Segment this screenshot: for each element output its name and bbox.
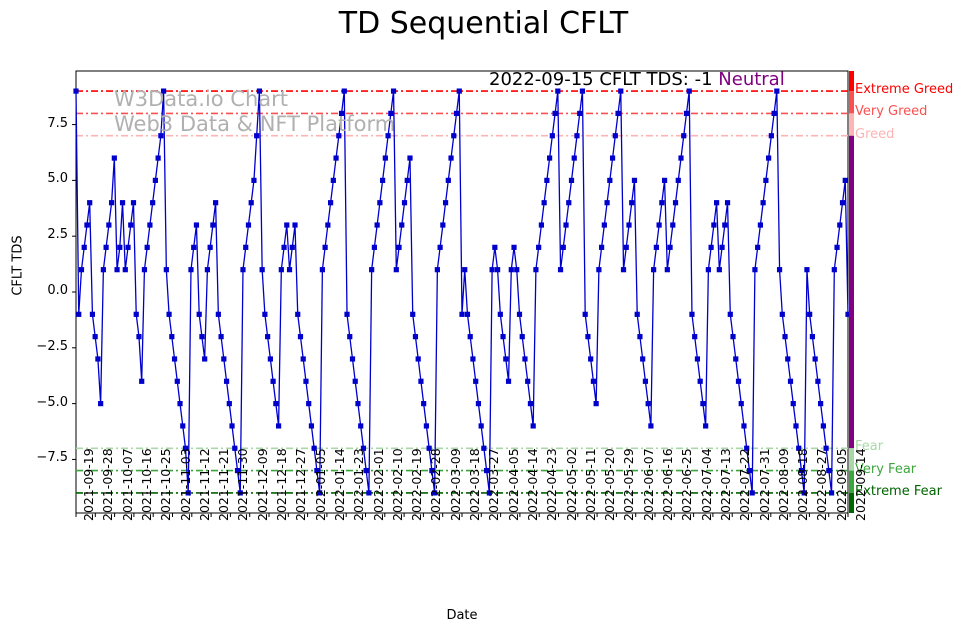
data-point [117,245,122,250]
data-point [632,178,637,183]
data-point [741,423,746,428]
data-point [834,245,839,250]
data-point [520,334,525,339]
data-point [243,245,248,250]
data-point [268,356,273,361]
data-point [681,133,686,138]
data-point [561,245,566,250]
data-point [459,312,464,317]
data-point [424,423,429,428]
data-point [377,200,382,205]
data-point [659,200,664,205]
colorbar-segment [849,91,854,113]
data-point [692,334,697,339]
data-point [837,222,842,227]
zone-label: Extreme Fear [855,484,942,499]
data-point [739,401,744,406]
x-tick-label: 2022-04-14 [525,448,540,521]
data-point [457,88,462,93]
data-point [815,379,820,384]
data-point [306,401,311,406]
data-point [468,334,473,339]
data-point [79,267,84,272]
data-point [807,312,812,317]
data-point [156,155,161,160]
x-tick-label: 2022-03-27 [486,448,501,521]
data-point [101,267,106,272]
data-point [643,379,648,384]
data-point [752,267,757,272]
data-point [380,178,385,183]
data-point [309,423,314,428]
y-tick-label: 2.5 [12,227,68,242]
data-point [758,222,763,227]
zone-label: Greed [855,127,894,142]
data-point [804,267,809,272]
data-point [251,178,256,183]
data-point [229,423,234,428]
x-tick-label: 2021-10-25 [158,448,173,521]
data-point [574,133,579,138]
data-point [106,222,111,227]
data-point [180,423,185,428]
data-point [594,401,599,406]
data-point [490,267,495,272]
x-tick-label: 2022-06-25 [679,448,694,521]
data-point [788,379,793,384]
data-point [791,401,796,406]
data-point [479,423,484,428]
data-point [602,222,607,227]
data-point [728,312,733,317]
data-point [547,155,552,160]
data-point [761,200,766,205]
data-point [569,178,574,183]
data-point [673,200,678,205]
data-point [292,222,297,227]
data-point [323,245,328,250]
data-point [550,133,555,138]
data-point [249,200,254,205]
data-point [525,379,530,384]
y-tick-label: 5.0 [12,171,68,186]
colorbar-segment [849,71,854,91]
data-point [782,334,787,339]
data-point [667,245,672,250]
x-tick-label: 2022-06-07 [641,448,656,521]
data-point [670,222,675,227]
data-point [646,401,651,406]
data-point [733,356,738,361]
x-tick-label: 2022-04-23 [544,448,559,521]
x-tick-label: 2022-04-05 [506,448,521,521]
data-point [552,111,557,116]
data-point [153,178,158,183]
data-point [375,222,380,227]
x-tick-label: 2022-02-19 [409,448,424,521]
data-point [511,245,516,250]
x-tick-label: 2022-08-27 [814,448,829,521]
data-point [591,379,596,384]
data-point [736,379,741,384]
data-point [711,222,716,227]
data-point [621,267,626,272]
data-point [188,267,193,272]
data-point [287,267,292,272]
data-point [498,312,503,317]
data-point [766,155,771,160]
data-point [383,155,388,160]
data-point [451,133,456,138]
data-point [191,245,196,250]
data-point [473,379,478,384]
data-point [476,401,481,406]
x-tick-label: 2022-01-05 [313,448,328,521]
data-point [722,222,727,227]
data-point [536,245,541,250]
data-point [240,267,245,272]
data-point [533,267,538,272]
data-point [399,222,404,227]
data-point [769,133,774,138]
data-point [531,423,536,428]
data-point [717,267,722,272]
data-point [588,356,593,361]
data-point [328,200,333,205]
data-point [369,267,374,272]
y-tick-label: −2.5 [12,339,68,354]
data-point [651,267,656,272]
data-point [465,312,470,317]
data-point [629,200,634,205]
data-point [657,222,662,227]
y-tick-label: −7.5 [12,450,68,465]
data-point [522,356,527,361]
data-point [448,155,453,160]
data-point [358,423,363,428]
data-point [624,245,629,250]
data-point [95,356,100,361]
x-tick-label: 2022-07-04 [699,448,714,521]
x-tick-label: 2022-07-22 [737,448,752,521]
x-tick-label: 2022-05-02 [564,448,579,521]
data-point [843,178,848,183]
data-point [454,111,459,116]
chart-figure: TD Sequential CFLT CFLT TDS Date W3Data.… [0,0,967,633]
x-tick-label: 2022-07-13 [718,448,733,521]
data-point [227,401,232,406]
y-tick-label: −5.0 [12,395,68,410]
x-tick-label: 2022-07-31 [757,448,772,521]
data-point [410,312,415,317]
data-point [407,155,412,160]
data-point [172,356,177,361]
x-tick-label: 2022-05-29 [621,448,636,521]
data-point [509,267,514,272]
data-point [224,379,229,384]
data-point [295,312,300,317]
data-point [166,312,171,317]
data-point [164,267,169,272]
data-point [134,312,139,317]
data-point [114,267,119,272]
data-point [355,401,360,406]
data-point [391,88,396,93]
data-point [104,245,109,250]
x-tick-label: 2022-01-14 [332,448,347,521]
data-point [635,312,640,317]
data-point [262,312,267,317]
data-point [506,379,511,384]
x-tick-label: 2022-05-20 [602,448,617,521]
data-point [514,267,519,272]
data-point [273,401,278,406]
data-point [87,200,92,205]
x-tick-label: 2021-11-12 [197,448,212,521]
data-point [626,222,631,227]
data-point [615,111,620,116]
zone-label: Extreme Greed [855,82,953,97]
x-tick-label: 2022-05-11 [583,448,598,521]
current-value-annotation: 2022-09-15 CFLT TDS: -1 Neutral [489,69,785,90]
data-point [470,356,475,361]
data-point [676,178,681,183]
data-point [539,222,544,227]
data-point [654,245,659,250]
data-point [777,267,782,272]
data-point [333,155,338,160]
data-point [730,334,735,339]
data-point [832,267,837,272]
data-point [572,155,577,160]
watermark-line-1: W3Data.io Chart [114,87,288,111]
data-point [492,245,497,250]
data-point [821,423,826,428]
watermark-line-2: Web3 Data & NFT Platform [114,112,395,136]
data-point [139,379,144,384]
data-point [662,178,667,183]
data-point [435,267,440,272]
data-point [405,178,410,183]
data-point [147,222,152,227]
zone-label: Very Greed [855,104,927,119]
x-tick-label: 2022-02-01 [371,448,386,521]
data-point [276,423,281,428]
data-point [613,133,618,138]
data-point [208,245,213,250]
data-point [175,379,180,384]
data-point [131,200,136,205]
data-point [347,334,352,339]
data-point [585,334,590,339]
data-point [610,155,615,160]
data-point [112,155,117,160]
data-point [440,222,445,227]
data-point [142,267,147,272]
data-point [599,245,604,250]
data-point [344,312,349,317]
data-point [320,267,325,272]
data-point [125,245,130,250]
data-point [793,423,798,428]
x-tick-label: 2022-01-23 [351,448,366,521]
y-tick-label: 0.0 [12,283,68,298]
y-tick-label: 7.5 [12,116,68,131]
data-point [145,245,150,250]
x-tick-label: 2021-11-03 [178,448,193,521]
x-tick-label: 2021-12-27 [293,448,308,521]
data-point [271,379,276,384]
data-point [698,379,703,384]
data-point [418,379,423,384]
data-point [177,401,182,406]
data-point [416,356,421,361]
data-point [689,312,694,317]
data-point [438,245,443,250]
data-point [813,356,818,361]
data-point [120,200,125,205]
data-point [421,401,426,406]
data-point [695,356,700,361]
data-point [583,312,588,317]
data-point [637,334,642,339]
data-point [780,312,785,317]
data-point [396,245,401,250]
x-tick-label: 2022-03-18 [467,448,482,521]
x-tick-label: 2022-08-09 [776,448,791,521]
data-point [703,423,708,428]
data-point [596,267,601,272]
data-point [298,334,303,339]
x-tick-label: 2021-12-09 [255,448,270,521]
data-point [394,267,399,272]
data-point [544,178,549,183]
data-point [216,312,221,317]
data-point [700,401,705,406]
data-point [709,245,714,250]
data-point [563,222,568,227]
data-point [372,245,377,250]
data-point [500,334,505,339]
colorbar-segment [849,113,854,135]
data-point [818,401,823,406]
x-tick-label: 2022-03-09 [448,448,463,521]
annotation-sentiment: Neutral [718,69,784,90]
annotation-text: 2022-09-15 CFLT TDS: -1 [489,69,713,90]
data-point [205,267,210,272]
data-point [558,267,563,272]
data-point [678,155,683,160]
x-tick-label: 2021-09-28 [100,448,115,521]
data-point [446,178,451,183]
data-point [495,267,500,272]
data-point [290,245,295,250]
x-tick-label: 2021-11-21 [216,448,231,521]
data-point [331,178,336,183]
data-point [785,356,790,361]
data-point [82,245,87,250]
data-point [279,267,284,272]
x-tick-label: 2022-02-10 [390,448,405,521]
data-point [665,267,670,272]
data-point [98,401,103,406]
data-point [542,200,547,205]
x-tick-label: 2022-08-18 [795,448,810,521]
data-point [218,334,223,339]
data-point [169,334,174,339]
data-point [221,356,226,361]
data-point [76,312,81,317]
data-point [413,334,418,339]
x-tick-label: 2021-09-19 [81,448,96,521]
data-point [640,356,645,361]
data-point [136,334,141,339]
data-point [402,200,407,205]
data-point [128,222,133,227]
data-point [840,200,845,205]
data-point [342,88,347,93]
data-point [109,200,114,205]
data-point [719,245,724,250]
data-point [202,356,207,361]
data-point [714,200,719,205]
x-tick-label: 2021-11-30 [235,448,250,521]
data-point [265,334,270,339]
data-point [443,200,448,205]
data-point [810,334,815,339]
data-point [607,178,612,183]
data-point [755,245,760,250]
x-tick-label: 2022-02-28 [428,448,443,521]
data-point [213,200,218,205]
data-point [301,356,306,361]
data-point [303,379,308,384]
data-point [517,312,522,317]
data-point [503,356,508,361]
x-tick-label: 2021-10-16 [139,448,154,521]
x-tick-label: 2022-09-05 [834,448,849,521]
data-point [90,312,95,317]
data-point [246,222,251,227]
data-point [684,111,689,116]
colorbar-segment [849,136,854,449]
data-point [199,334,204,339]
data-point [197,312,202,317]
data-point [350,356,355,361]
x-tick-label: 2021-10-07 [120,448,135,521]
data-point [462,267,467,272]
x-tick-label: 2022-09-14 [853,448,868,521]
data-point [194,222,199,227]
data-point [325,222,330,227]
data-point [123,267,128,272]
data-point [566,200,571,205]
data-point [771,111,776,116]
data-point [353,379,358,384]
data-point [281,245,286,250]
data-point [725,200,730,205]
data-point [84,222,89,227]
data-point [260,267,265,272]
data-point [706,267,711,272]
data-point [604,200,609,205]
x-tick-label: 2022-06-16 [660,448,675,521]
x-tick-label: 2021-12-18 [274,448,289,521]
data-point [210,222,215,227]
data-point [73,88,78,93]
data-point [93,334,98,339]
data-point [284,222,289,227]
